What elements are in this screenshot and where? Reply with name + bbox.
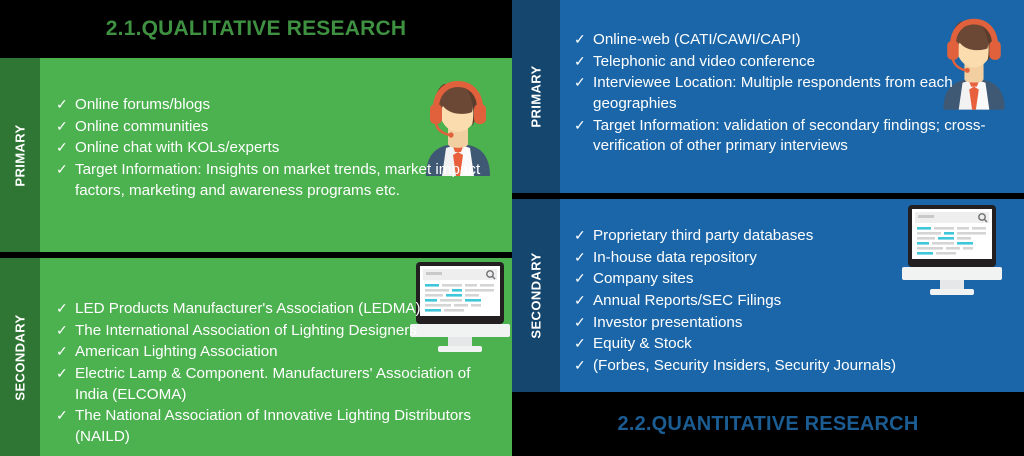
quantitative-secondary-content: ✓Proprietary third party databases ✓In-h… (560, 199, 1024, 392)
quantitative-secondary-rail: SECONDARY (512, 199, 560, 392)
qualitative-primary-rail-label: PRIMARY (13, 124, 28, 186)
check-icon: ✓ (574, 73, 586, 92)
check-icon: ✓ (56, 406, 68, 425)
qualitative-primary-content: ✓Online forums/blogs ✓Online communities… (40, 58, 512, 252)
list-item-label: Investor presentations (593, 314, 742, 331)
check-icon: ✓ (56, 117, 68, 136)
list-item-label: Online forums/blogs (75, 96, 210, 113)
list-item-label: Electric Lamp & Component. Manufacturers… (75, 365, 470, 403)
list-item: ✓Online-web (CATI/CAWI/CAPI) (574, 30, 1012, 51)
list-item-label: Online communities (75, 118, 208, 135)
list-item-label: Company sites (593, 270, 693, 287)
check-icon: ✓ (56, 342, 68, 361)
list-item: ✓Equity & Stock (574, 334, 1010, 355)
list-item: ✓The National Association of Innovative … (56, 406, 482, 447)
list-item: ✓Proprietary third party databases (574, 226, 1010, 247)
quantitative-primary-panel: PRIMARY ✓Online-web (CATI/CAWI/CA (512, 0, 1024, 193)
list-item-label: Target Information: validation of second… (593, 117, 986, 155)
qualitative-title-band: 2.1.QUALITATIVE RESEARCH (0, 0, 512, 58)
list-item-label: Interviewee Location: Multiple responden… (593, 74, 953, 112)
list-item-label: (Forbes, Security Insiders, Security Jou… (593, 357, 896, 374)
check-icon: ✓ (56, 299, 68, 318)
check-icon: ✓ (56, 160, 68, 179)
list-item: ✓(Forbes, Security Insiders, Security Jo… (574, 356, 1010, 377)
list-item-label: Annual Reports/SEC Filings (593, 292, 781, 309)
quantitative-secondary-rail-label: SECONDARY (529, 252, 544, 338)
list-item-label: Online chat with KOLs/experts (75, 139, 279, 156)
list-item: ✓Target Information: validation of secon… (574, 116, 1012, 157)
list-item: ✓Interviewee Location: Multiple responde… (574, 73, 1012, 114)
list-item-label: In-house data repository (593, 249, 757, 266)
list-item: ✓Online forums/blogs (56, 95, 500, 116)
list-item: ✓Electric Lamp & Component. Manufacturer… (56, 364, 482, 405)
quantitative-primary-rail-label: PRIMARY (529, 65, 544, 127)
check-icon: ✓ (574, 248, 586, 267)
list-item: ✓Target Information: Insights on market … (56, 160, 500, 201)
list-item-label: Telephonic and video conference (593, 53, 815, 70)
quantitative-primary-content: ✓Online-web (CATI/CAWI/CAPI) ✓Telephonic… (560, 0, 1024, 193)
list-item-label: The National Association of Innovative L… (75, 407, 471, 445)
list-item: ✓Telephonic and video conference (574, 52, 1012, 73)
qualitative-secondary-list: ✓LED Products Manufacturer's Association… (56, 299, 482, 449)
list-item: ✓Company sites (574, 269, 1010, 290)
check-icon: ✓ (56, 364, 68, 383)
qualitative-primary-list: ✓Online forums/blogs ✓Online communities… (56, 95, 500, 202)
check-icon: ✓ (574, 334, 586, 353)
list-item: ✓LED Products Manufacturer's Association… (56, 299, 482, 320)
qualitative-primary-rail: PRIMARY (0, 58, 40, 252)
list-item: ✓Annual Reports/SEC Filings (574, 291, 1010, 312)
check-icon: ✓ (574, 269, 586, 288)
qualitative-secondary-rail: SECONDARY (0, 258, 40, 456)
qualitative-secondary-rail-label: SECONDARY (13, 314, 28, 400)
qualitative-primary-panel: PRIMARY ✓Online forums/blo (0, 58, 512, 252)
list-item-label: LED Products Manufacturer's Association … (75, 300, 421, 317)
check-icon: ✓ (574, 313, 586, 332)
list-item: ✓The International Association of Lighti… (56, 321, 482, 342)
list-item-label: The International Association of Lightin… (75, 322, 417, 339)
quantitative-secondary-list: ✓Proprietary third party databases ✓In-h… (574, 226, 1010, 378)
list-item: ✓Online communities (56, 117, 500, 138)
list-item-label: Proprietary third party databases (593, 227, 813, 244)
list-item: ✓American Lighting Association (56, 342, 482, 363)
list-item-label: Equity & Stock (593, 335, 692, 352)
quantitative-title-band: 2.2.QUANTITATIVE RESEARCH (512, 392, 1024, 456)
check-icon: ✓ (56, 321, 68, 340)
check-icon: ✓ (574, 116, 586, 135)
list-item-label: Target Information: Insights on market t… (75, 161, 480, 199)
qualitative-title: 2.1.QUALITATIVE RESEARCH (106, 17, 406, 41)
check-icon: ✓ (56, 138, 68, 157)
list-item: ✓In-house data repository (574, 248, 1010, 269)
infographic-canvas: 2.1.QUALITATIVE RESEARCH PRIMARY (0, 0, 1024, 456)
qualitative-secondary-panel: SECONDARY (0, 258, 512, 456)
list-item: ✓Investor presentations (574, 313, 1010, 334)
list-item-label: Online-web (CATI/CAWI/CAPI) (593, 31, 801, 48)
check-icon: ✓ (574, 226, 586, 245)
quantitative-secondary-panel: SECONDARY (512, 199, 1024, 392)
check-icon: ✓ (574, 356, 586, 375)
list-item-label: American Lighting Association (75, 343, 278, 360)
qualitative-secondary-content: ✓LED Products Manufacturer's Association… (40, 258, 512, 456)
check-icon: ✓ (574, 30, 586, 49)
list-item: ✓Online chat with KOLs/experts (56, 138, 500, 159)
quantitative-primary-rail: PRIMARY (512, 0, 560, 193)
quantitative-title: 2.2.QUANTITATIVE RESEARCH (618, 413, 919, 436)
check-icon: ✓ (56, 95, 68, 114)
check-icon: ✓ (574, 291, 586, 310)
check-icon: ✓ (574, 52, 586, 71)
quantitative-primary-list: ✓Online-web (CATI/CAWI/CAPI) ✓Telephonic… (574, 30, 1012, 158)
